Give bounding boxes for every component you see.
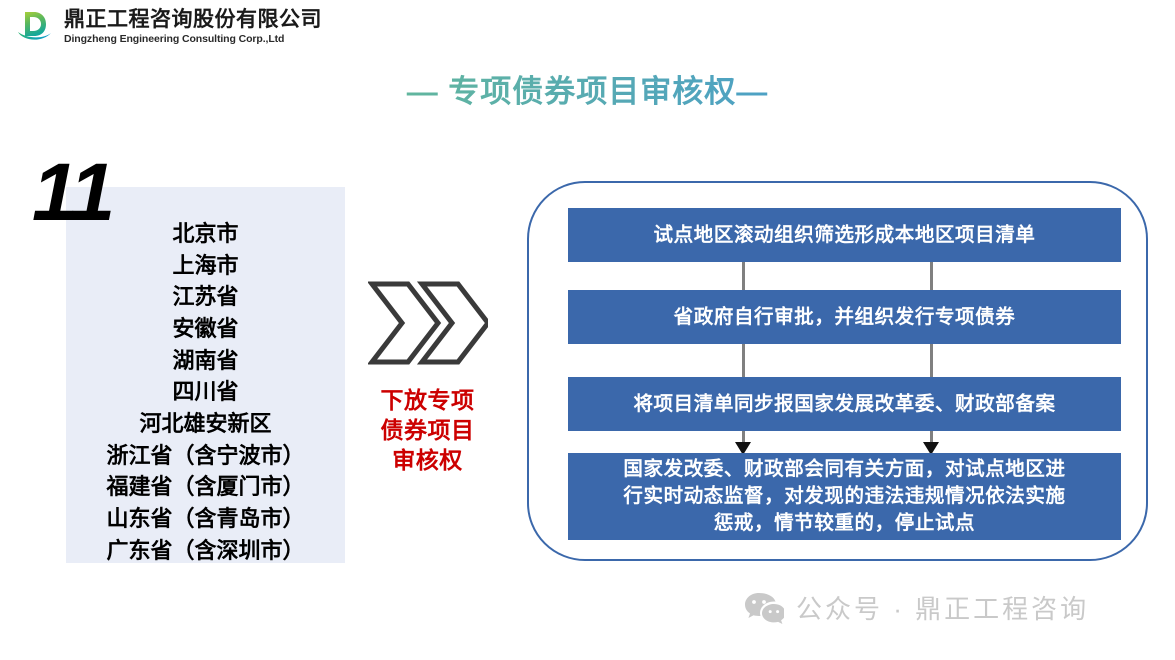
connector-line xyxy=(742,262,745,290)
list-item: 安徽省 xyxy=(66,313,345,345)
connector-line xyxy=(930,344,933,377)
flow-step-4-line: 惩戒，情节较重的，停止试点 xyxy=(623,510,1065,537)
slide-canvas: 鼎正工程咨询股份有限公司 Dingzheng Engineering Consu… xyxy=(0,0,1175,660)
item-number: 11 xyxy=(32,152,113,234)
flow-step-2: 省政府自行审批，并组织发行专项债券 xyxy=(568,290,1121,344)
list-item: 四川省 xyxy=(66,376,345,408)
transition-caption-line: 下放专项 xyxy=(355,386,500,416)
flow-step-4: 国家发改委、财政部会同有关方面，对试点地区进 行实时动态监督，对发现的违法违规情… xyxy=(568,453,1121,540)
connector-line xyxy=(742,344,745,377)
list-item: 浙江省（含宁波市） xyxy=(66,440,345,472)
flow-step-1-text: 试点地区滚动组织筛选形成本地区项目清单 xyxy=(654,222,1036,249)
list-item: 江苏省 xyxy=(66,281,345,313)
flow-steps: 试点地区滚动组织筛选形成本地区项目清单 省政府自行审批，并组织发行专项债券 将项… xyxy=(568,208,1121,540)
list-item: 上海市 xyxy=(66,250,345,282)
wechat-watermark: 公众号 · 鼎正工程咨询 xyxy=(744,589,1089,626)
transition-caption-line: 债券项目 xyxy=(355,416,500,446)
list-item: 山东省（含青岛市） xyxy=(66,503,345,535)
flow-step-4-line: 行实时动态监督，对发现的违法违规情况依法实施 xyxy=(623,483,1065,510)
flow-step-2-text: 省政府自行审批，并组织发行专项债券 xyxy=(674,304,1016,331)
flow-step-3: 将项目清单同步报国家发展改革委、财政部备案 xyxy=(568,377,1121,431)
flow-step-4-line: 国家发改委、财政部会同有关方面，对试点地区进 xyxy=(623,456,1065,483)
wechat-icon xyxy=(744,591,784,625)
brand-name-cn: 鼎正工程咨询股份有限公司 xyxy=(64,9,322,30)
list-item: 广东省（含深圳市） xyxy=(66,535,345,567)
brand-name-en: Dingzheng Engineering Consulting Corp.,L… xyxy=(64,34,322,45)
brand-header: 鼎正工程咨询股份有限公司 Dingzheng Engineering Consu… xyxy=(14,6,322,48)
region-list: 北京市 上海市 江苏省 安徽省 湖南省 四川省 河北雄安新区 浙江省（含宁波市）… xyxy=(66,218,345,566)
list-item: 湖南省 xyxy=(66,345,345,377)
list-item: 河北雄安新区 xyxy=(66,408,345,440)
transition-caption-line: 审核权 xyxy=(355,446,500,476)
flow-step-3-text: 将项目清单同步报国家发展改革委、财政部备案 xyxy=(633,391,1055,418)
wechat-watermark-text: 公众号 · 鼎正工程咨询 xyxy=(796,589,1089,626)
dingzheng-d-logo-icon xyxy=(14,6,56,48)
transition-caption: 下放专项 债券项目 审核权 xyxy=(355,386,500,476)
double-chevron-right-icon xyxy=(368,278,488,368)
page-title: — 专项债券项目审核权— xyxy=(0,66,1175,111)
connector-line xyxy=(930,262,933,290)
brand-text-block: 鼎正工程咨询股份有限公司 Dingzheng Engineering Consu… xyxy=(64,9,322,45)
flow-step-1: 试点地区滚动组织筛选形成本地区项目清单 xyxy=(568,208,1121,262)
list-item: 福建省（含厦门市） xyxy=(66,471,345,503)
